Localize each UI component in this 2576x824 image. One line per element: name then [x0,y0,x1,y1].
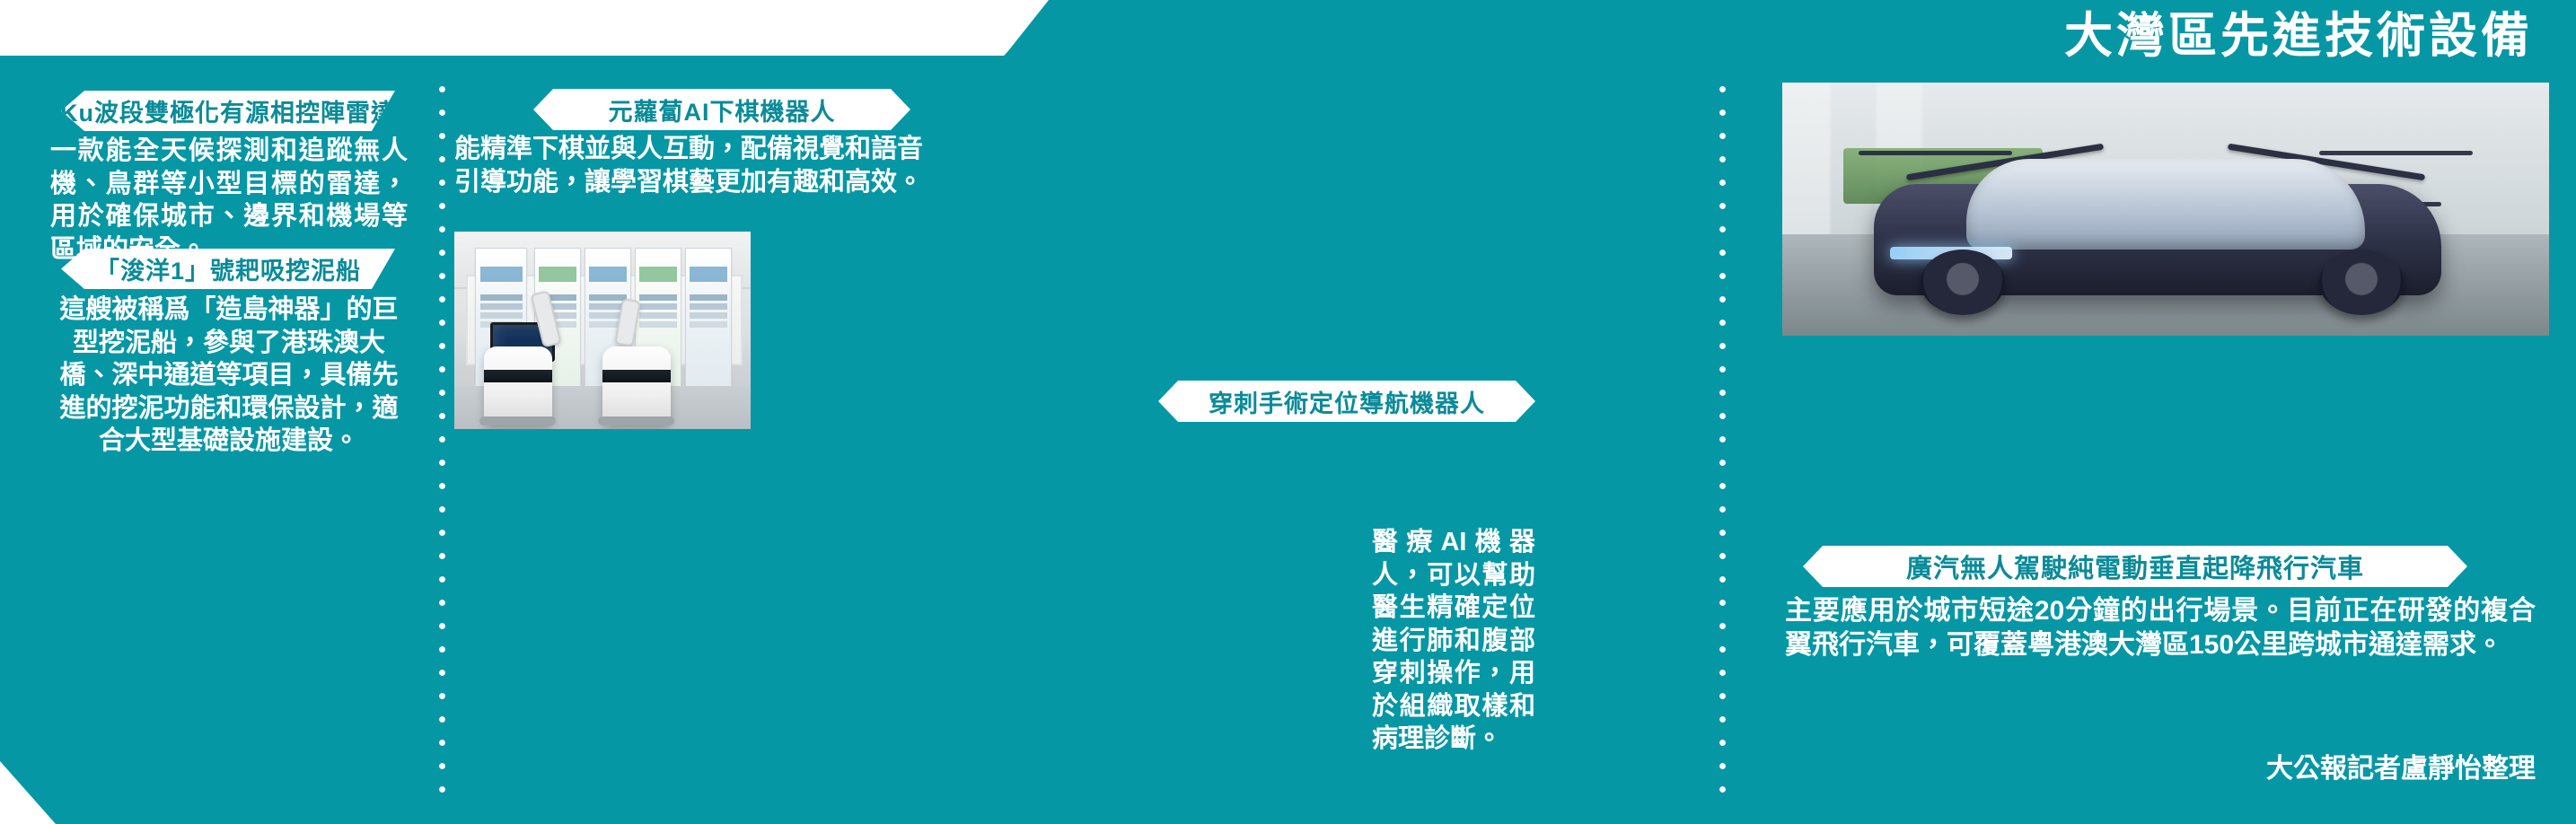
badge-puncture-robot-label: 穿刺手術定位導航機器人 [1209,384,1485,419]
paragraph-puncture-robot: 醫療AI機器人，可以幫助醫生精確定位進行肺和腹部穿刺操作，用於組織取樣和病理診斷… [1372,526,1535,756]
divider-dots-right [1719,86,1726,804]
divider-dots-left [439,86,445,804]
paragraph-dredger-ship-text: 這艘被稱爲「造島神器」的巨型挖泥船，參與了港珠澳大橋、深中通道等項目，具備先進的… [59,295,398,455]
badge-dredger-ship[interactable]: 「浚洋1」號耙吸挖泥船 [61,249,395,289]
paragraph-dredger-ship: 這艘被稱爲「造島神器」的巨型挖泥船，參與了港珠澳大橋、深中通道等項目，具備先進的… [50,294,408,458]
badge-flying-car[interactable]: 廣汽無人駕駛純電動垂直起降飛行汽車 [1803,546,2467,587]
badge-dredger-ship-label: 「浚洋1」號耙吸挖泥船 [95,251,361,286]
badge-puncture-robot[interactable]: 穿刺手術定位導航機器人 [1158,381,1535,422]
badge-chess-robot-label: 元蘿蔔AI下棋機器人 [609,92,836,127]
exhibition-hall-photo [454,232,751,429]
paragraph-flying-car-text: 主要應用於城市短途20分鐘的出行場景。目前正在研發的複合翼飛行汽車，可覆蓋粵港澳… [1785,596,2536,660]
paragraph-puncture-robot-text: 醫療AI機器人，可以幫助醫生精確定位進行肺和腹部穿刺操作，用於組織取樣和病理診斷… [1372,528,1535,753]
paragraph-ku-band-radar-text: 一款能全天候探測和追蹤無人機、鳥群等小型目標的雷達，用於確保城市、邊界和機場等區… [50,136,408,264]
infographic-canvas: 大灣區先進技術設備 Ku波段雙極化有源相控陣雷達 一款能全天候探測和追蹤無人機、… [0,0,2576,824]
paragraph-chess-robot: 能精準下棋並與人互動，配備視覺和語音引導功能，讓學習棋藝更加有趣和高效。 [454,133,939,198]
badge-ku-band-radar[interactable]: Ku波段雙極化有源相控陣雷達 [61,91,395,131]
badge-flying-car-label: 廣汽無人駕駛純電動垂直起降飛行汽車 [1906,548,2364,585]
page-title: 大灣區先進技術設備 [2064,7,2533,65]
paragraph-chess-robot-text: 能精準下棋並與人互動，配備視覺和語音引導功能，讓學習棋藝更加有趣和高效。 [454,135,923,197]
flying-car-photo [1782,83,2549,336]
badge-chess-robot[interactable]: 元蘿蔔AI下棋機器人 [533,89,910,130]
credit-line: 大公報記者盧靜怡整理 [1785,752,2536,786]
credit-text: 大公報記者盧靜怡整理 [2266,754,2536,784]
badge-ku-band-radar-label: Ku波段雙極化有源相控陣雷達 [60,93,396,128]
paragraph-flying-car: 主要應用於城市短途20分鐘的出行場景。目前正在研發的複合翼飛行汽車，可覆蓋粵港澳… [1785,594,2536,662]
paragraph-ku-band-radar: 一款能全天候探測和追蹤無人機、鳥群等小型目標的雷達，用於確保城市、邊界和機場等區… [50,135,408,266]
